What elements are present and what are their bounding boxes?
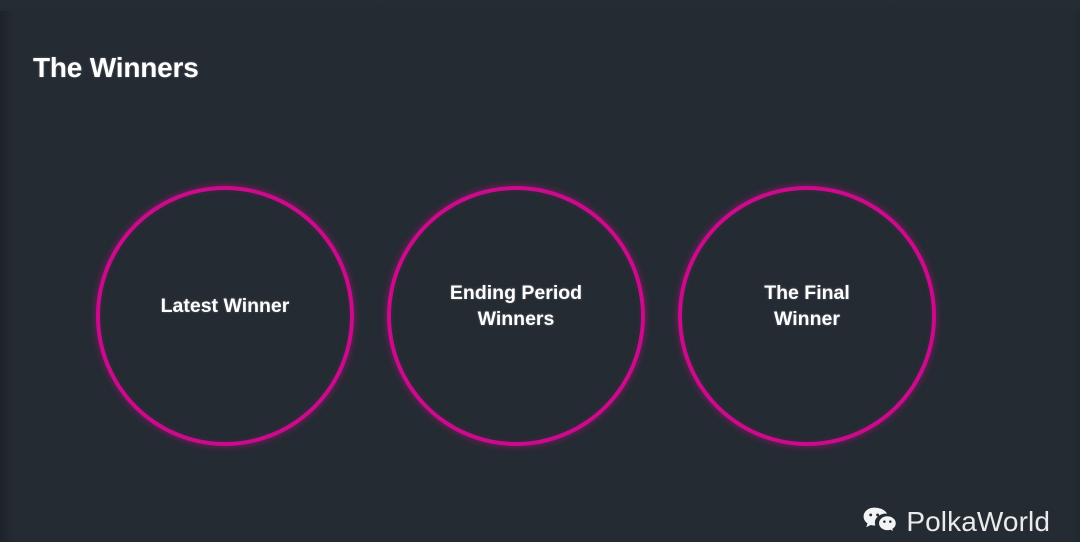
winner-circle-label: The Final Winner: [700, 281, 915, 333]
winner-circle-the-final-winner[interactable]: The Final Winner: [678, 186, 936, 446]
watermark-text: PolkaWorld: [906, 508, 1050, 536]
watermark: PolkaWorld: [863, 507, 1050, 536]
winner-circle-label: Latest Winner: [118, 294, 333, 320]
winner-circle-ending-period-winners[interactable]: Ending Period Winners: [387, 186, 645, 446]
wechat-icon: [863, 507, 897, 536]
slide-canvas: Overview Parachains Staking Governance S…: [0, 0, 1080, 542]
top-navigation-bar[interactable]: Overview Parachains Staking Governance S…: [0, 0, 1080, 11]
winner-circle-latest-winner[interactable]: Latest Winner: [96, 186, 354, 446]
winners-circle-group: Latest Winner Ending Period Winners The …: [0, 186, 1080, 446]
winner-circle-label: Ending Period Winners: [409, 281, 624, 333]
page-title: The Winners: [33, 52, 199, 84]
